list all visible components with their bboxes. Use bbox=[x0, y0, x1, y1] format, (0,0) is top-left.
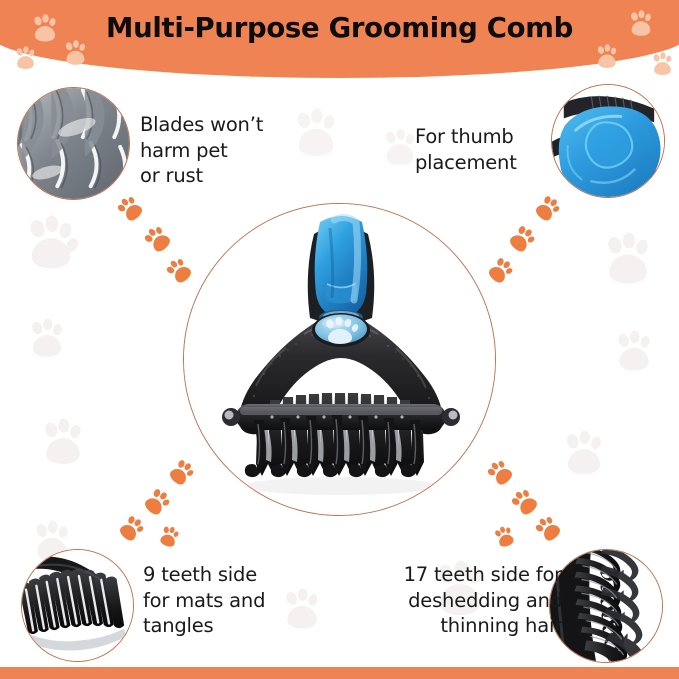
decor-paw-icon bbox=[155, 523, 184, 552]
header-banner: Multi-Purpose Grooming Comb bbox=[0, 0, 679, 78]
seventeen-teeth-side-closeup-image bbox=[550, 550, 662, 662]
watermark-paw-icon bbox=[22, 215, 80, 280]
watermark-paw-icon bbox=[612, 330, 656, 381]
decor-paw-icon bbox=[506, 484, 545, 523]
watermark-paw-icon bbox=[560, 430, 608, 485]
watermark-paw-icon bbox=[26, 318, 68, 367]
decor-paw-icon bbox=[491, 523, 520, 552]
nine-teeth-side-closeup-image bbox=[22, 550, 133, 661]
callout-image-seventeen-teeth bbox=[549, 549, 663, 663]
callout-text-blades: Blades won’t harm pet or rust bbox=[140, 112, 263, 189]
decor-paw-icon bbox=[530, 511, 567, 548]
callout-image-nine-teeth bbox=[21, 549, 134, 662]
decor-paw-icon bbox=[482, 455, 519, 492]
decor-paw-icon bbox=[161, 253, 198, 290]
page-title: Multi-Purpose Grooming Comb bbox=[0, 12, 679, 44]
watermark-paw-icon bbox=[380, 128, 420, 175]
callout-image-thumb-grip bbox=[551, 84, 665, 198]
decor-paw-icon bbox=[139, 221, 178, 260]
paw-badge-icon bbox=[312, 313, 370, 347]
watermark-paw-icon bbox=[600, 232, 656, 295]
callout-text-thumb-grip: For thumb placement bbox=[415, 124, 560, 175]
decor-paw-icon bbox=[502, 221, 541, 260]
decor-paw-icon bbox=[481, 253, 518, 290]
comb-blades-closeup-image bbox=[18, 88, 129, 199]
callout-image-blades bbox=[17, 87, 130, 200]
grooming-comb-product-photo bbox=[184, 204, 496, 516]
decor-paw-icon bbox=[112, 511, 149, 548]
callout-text-seventeen-teeth: 17 teeth side for deshedding and thinnin… bbox=[382, 562, 562, 639]
callout-text-nine-teeth: 9 teeth side for mats and tangles bbox=[143, 562, 265, 639]
infographic-canvas: Multi-Purpose Grooming Comb bbox=[0, 0, 679, 679]
decor-paw-icon bbox=[137, 484, 176, 523]
main-product-circle bbox=[183, 203, 496, 516]
blue-thumb-grip-closeup-image bbox=[552, 85, 664, 197]
watermark-paw-icon bbox=[280, 588, 324, 639]
footer-bar bbox=[0, 667, 679, 679]
header-paw-icon bbox=[650, 52, 675, 78]
decor-paw-icon bbox=[162, 455, 199, 492]
watermark-paw-icon bbox=[38, 418, 88, 475]
watermark-paw-icon bbox=[290, 108, 342, 167]
